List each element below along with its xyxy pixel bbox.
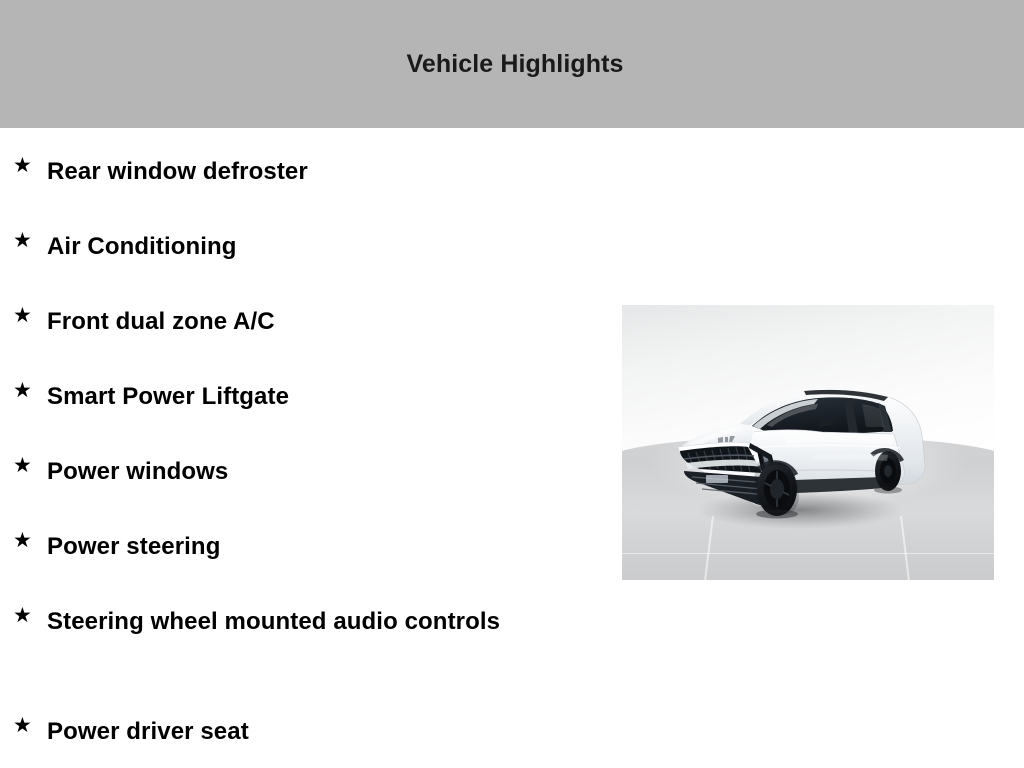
list-item-label: Air Conditioning bbox=[47, 229, 587, 265]
list-item-label: Smart Power Liftgate bbox=[47, 379, 587, 415]
list-item-label: Power steering bbox=[47, 529, 587, 565]
list-item: ★ Steering wheel mounted audio controls bbox=[0, 578, 620, 688]
list-item: ★ Smart Power Liftgate bbox=[0, 353, 620, 428]
page-title: Vehicle Highlights bbox=[0, 52, 1024, 77]
vehicle-illustration bbox=[622, 305, 994, 580]
star-icon: ★ bbox=[13, 605, 32, 626]
star-icon: ★ bbox=[13, 530, 32, 551]
star-icon: ★ bbox=[13, 455, 32, 476]
star-icon: ★ bbox=[13, 155, 32, 176]
header-band: Vehicle Highlights bbox=[0, 0, 1024, 128]
star-icon: ★ bbox=[13, 230, 32, 251]
list-item-label: Power driver seat bbox=[47, 714, 587, 750]
list-item-label: Power windows bbox=[47, 454, 587, 490]
list-item-label: Front dual zone A/C bbox=[47, 304, 587, 340]
vehicle-photo bbox=[622, 305, 994, 580]
star-icon: ★ bbox=[13, 380, 32, 401]
list-item-label: Rear window defroster bbox=[47, 154, 587, 190]
list-item: ★ Rear window defroster bbox=[0, 128, 620, 203]
list-item: ★ Power driver seat bbox=[0, 688, 620, 763]
star-icon: ★ bbox=[13, 715, 32, 736]
list-item: ★ Front dual zone A/C bbox=[0, 278, 620, 353]
list-item: ★ Air Conditioning bbox=[0, 203, 620, 278]
list-item: ★ Power steering bbox=[0, 503, 620, 578]
star-icon: ★ bbox=[13, 305, 32, 326]
list-item-label: Steering wheel mounted audio controls bbox=[47, 604, 557, 640]
vehicle-highlights-list: ★ Rear window defroster ★ Air Conditioni… bbox=[0, 128, 620, 763]
list-item: ★ Power windows bbox=[0, 428, 620, 503]
